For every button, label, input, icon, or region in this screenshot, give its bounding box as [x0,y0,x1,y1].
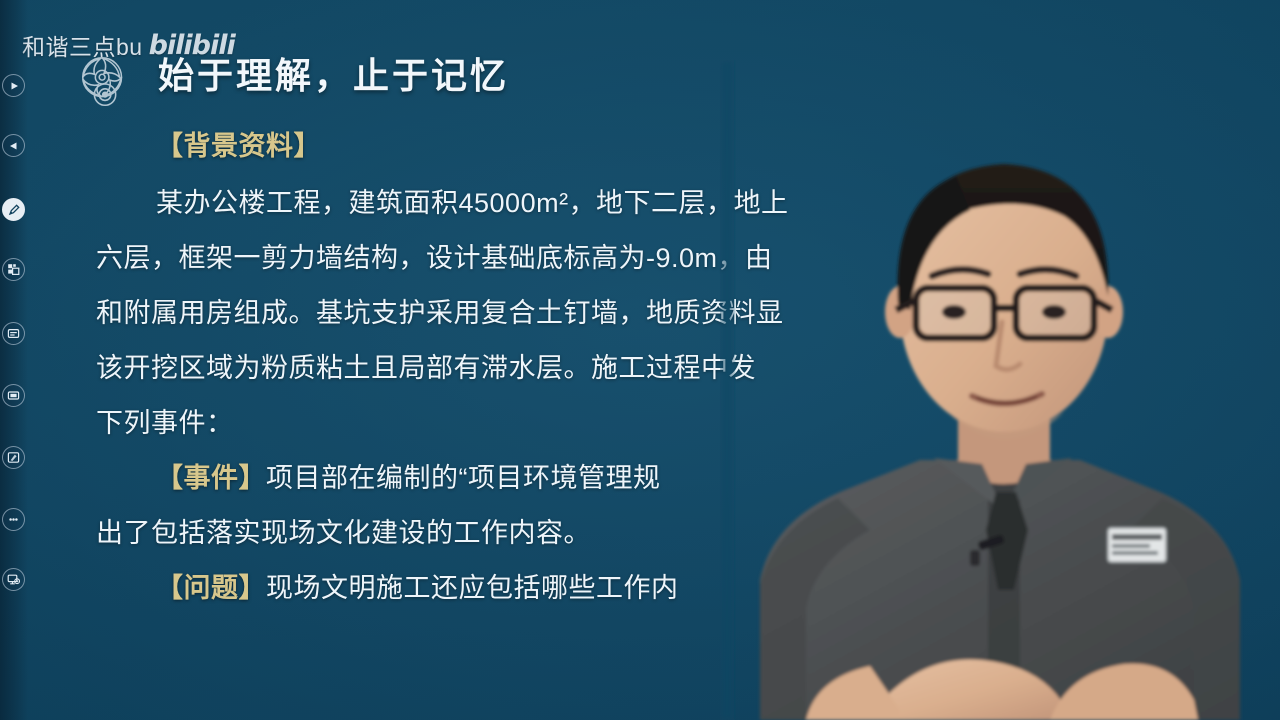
pen-icon [7,203,21,217]
slide-background [0,0,1280,720]
sidebar-item-subtitle[interactable] [2,322,25,345]
share-screen-icon [7,573,20,586]
screen-icon [7,389,20,402]
sidebar-item-pen[interactable] [2,198,25,221]
player-toolbar [0,0,28,720]
sidebar-item-share-screen[interactable] [2,568,25,591]
subtitle-icon [7,327,20,340]
play-icon [8,80,20,92]
more-icon [7,513,20,526]
sidebar-item-more[interactable] [2,508,25,531]
sidebar-item-whiteboard[interactable] [2,446,25,469]
sidebar-item-screen[interactable] [2,384,25,407]
video-player-screen: 始于理解，止于记忆 【背景资料】 某办公楼工程，建筑面积45000m²，地下二层… [0,0,1280,720]
whiteboard-icon [7,451,20,464]
layout-icon [7,263,20,276]
sidebar-item-play[interactable] [2,74,25,97]
previous-icon [8,140,20,152]
sidebar-item-layout[interactable] [2,258,25,281]
sidebar-item-previous[interactable] [2,134,25,157]
